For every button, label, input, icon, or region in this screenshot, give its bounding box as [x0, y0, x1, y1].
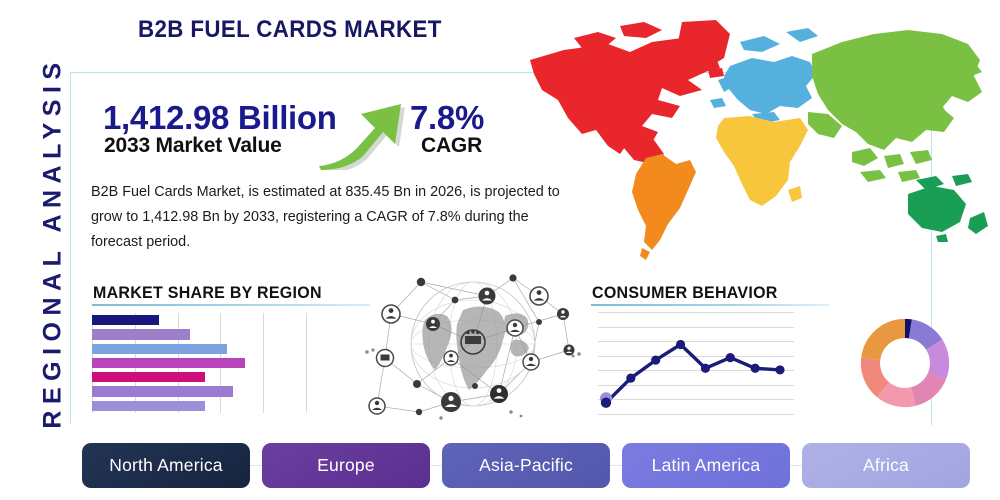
- market-share-bar-chart: [92, 313, 306, 413]
- line-chart-point: [751, 364, 760, 373]
- side-vertical-label: REGIONAL ANALYSIS: [39, 43, 68, 443]
- line-chart-series: [598, 312, 794, 414]
- page-title: B2B FUEL CARDS MARKET: [138, 16, 442, 44]
- region-tab-africa[interactable]: Africa: [802, 443, 970, 488]
- section-rule-market-share: [92, 304, 370, 306]
- section-title-market-share: MARKET SHARE BY REGION: [93, 283, 322, 303]
- line-chart-point: [775, 365, 784, 374]
- region-tab-north-america[interactable]: North America: [82, 443, 250, 488]
- donut-slice: [934, 344, 939, 375]
- bar-row: [92, 344, 306, 354]
- bar-segment: [92, 315, 159, 325]
- donut-slice: [914, 376, 938, 397]
- region-tabs: North AmericaEuropeAsia-PacificLatin Ame…: [82, 443, 930, 488]
- infographic-root: REGIONAL ANALYSIS B2B FUEL CARDS MARKET: [0, 0, 1000, 500]
- world-map-icon: [512, 14, 994, 266]
- bar-row: [92, 358, 306, 368]
- line-chart-point: [726, 353, 735, 362]
- donut-chart: [857, 315, 953, 411]
- growth-arrow-icon: [313, 82, 407, 170]
- bar-chart-gridline: [306, 313, 307, 413]
- description-text: B2B Fuel Cards Market, is estimated at 8…: [91, 180, 583, 255]
- bar-segment: [92, 386, 233, 396]
- market-value-label: 2033 Market Value: [104, 134, 282, 158]
- consumer-behavior-line-chart: [598, 312, 794, 414]
- region-tab-asia-pacific[interactable]: Asia-Pacific: [442, 443, 610, 488]
- market-value-figure: 1,412.98 Billion: [103, 99, 337, 137]
- bar-row: [92, 401, 306, 411]
- cagr-figure: 7.8%: [410, 99, 484, 137]
- region-tab-latin-america[interactable]: Latin America: [622, 443, 790, 488]
- line-chart-point: [651, 355, 660, 364]
- donut-slice: [910, 329, 934, 345]
- line-chart-point: [701, 364, 710, 373]
- line-chart-point: [601, 398, 611, 408]
- donut-slice: [871, 328, 905, 358]
- section-title-consumer-behavior: CONSUMER BEHAVIOR: [592, 283, 778, 303]
- region-tab-label: North America: [109, 455, 222, 476]
- bar-segment: [92, 358, 245, 368]
- section-rule-consumer-behavior: [591, 304, 829, 306]
- bar-segment: [92, 329, 190, 339]
- region-tab-label: Europe: [317, 455, 375, 476]
- region-tab-label: Africa: [863, 455, 909, 476]
- bar-row: [92, 315, 306, 325]
- line-chart-point: [626, 374, 635, 383]
- region-tab-europe[interactable]: Europe: [262, 443, 430, 488]
- donut-slice: [870, 359, 883, 390]
- bar-row: [92, 372, 306, 382]
- global-network-icon: [363, 266, 585, 424]
- region-tab-label: Asia-Pacific: [479, 455, 573, 476]
- bar-segment: [92, 401, 205, 411]
- donut-slice: [883, 390, 914, 398]
- bar-row: [92, 329, 306, 339]
- bar-segment: [92, 372, 205, 382]
- bar-segment: [92, 344, 227, 354]
- cagr-label: CAGR: [421, 134, 482, 158]
- line-chart-gridline: [598, 414, 794, 415]
- bar-row: [92, 386, 306, 396]
- line-chart-point: [676, 340, 685, 349]
- region-tab-label: Latin America: [652, 455, 761, 476]
